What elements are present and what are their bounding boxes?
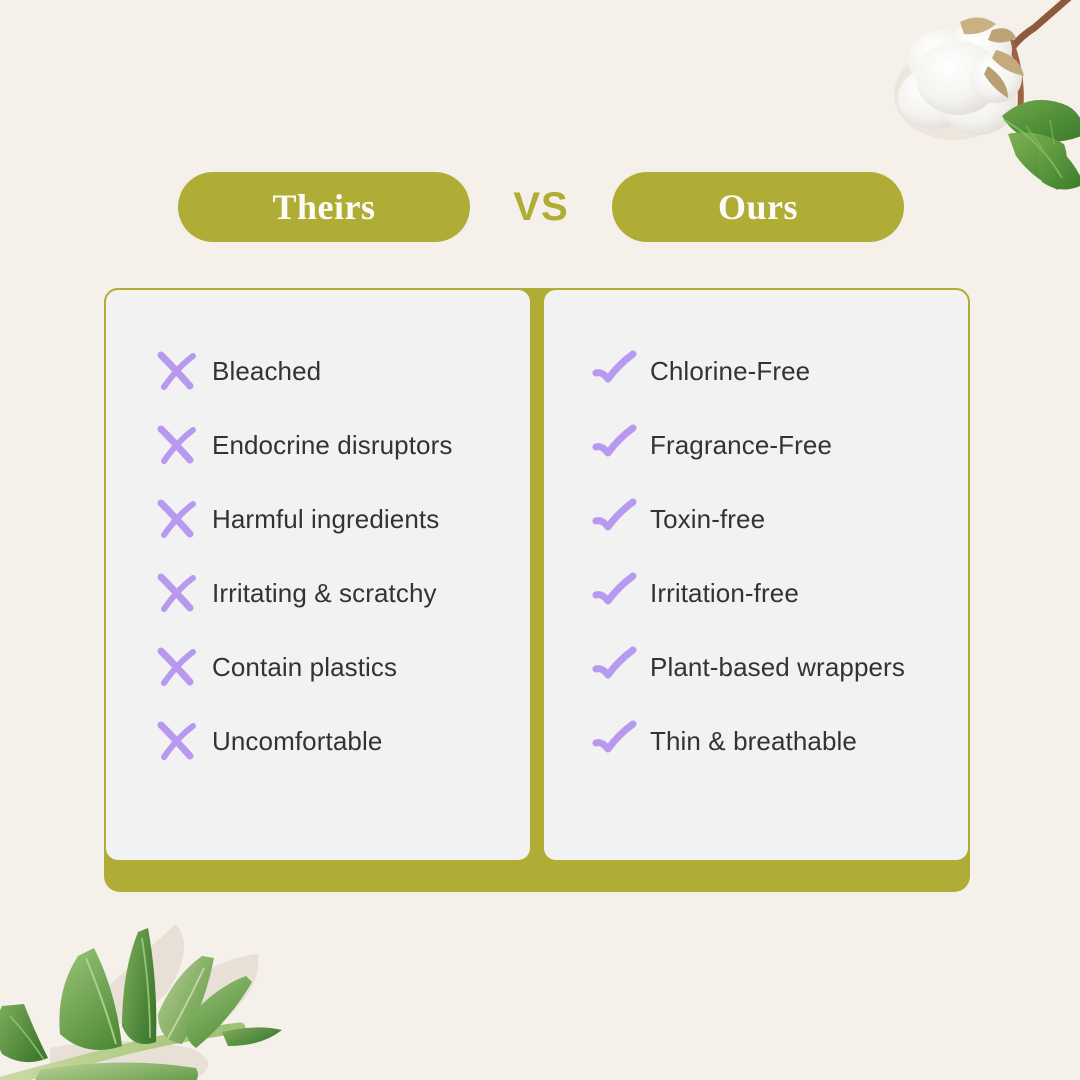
ours-card: Chlorine-FreeFragrance-FreeToxin-freeIrr… [542,288,970,862]
check-mark-icon [592,645,638,689]
list-item: Endocrine disruptors [106,408,530,482]
list-item-label: Endocrine disruptors [212,430,452,461]
list-item-label: Uncomfortable [212,726,382,757]
comparison-cards: BleachedEndocrine disruptorsHarmful ingr… [104,288,970,862]
list-item-label: Plant-based wrappers [650,652,905,683]
ours-pill: Ours [612,172,904,242]
green-leaves-sprig-decoration [0,898,320,1080]
list-item-label: Thin & breathable [650,726,857,757]
versus-label: VS [470,172,612,242]
list-item: Chlorine-Free [544,334,968,408]
check-mark-icon [592,571,638,615]
theirs-pill: Theirs [178,172,470,242]
list-item: Thin & breathable [544,704,968,778]
ours-pill-label: Ours [718,189,798,225]
poster-canvas: Theirs VS Ours BleachedEndocrine disrupt… [0,0,1080,1080]
x-mark-icon [154,423,200,467]
x-mark-icon [154,349,200,393]
comparison-header: Theirs VS Ours [0,172,1080,242]
check-mark-icon [592,497,638,541]
list-item-label: Harmful ingredients [212,504,439,535]
list-item-label: Bleached [212,356,321,387]
list-item: Harmful ingredients [106,482,530,556]
comparison-board: BleachedEndocrine disruptorsHarmful ingr… [104,288,970,892]
list-item-label: Fragrance-Free [650,430,832,461]
ours-item-list: Chlorine-FreeFragrance-FreeToxin-freeIrr… [544,334,968,778]
list-item-label: Toxin-free [650,504,765,535]
theirs-card: BleachedEndocrine disruptorsHarmful ingr… [104,288,532,862]
list-item: Bleached [106,334,530,408]
check-mark-icon [592,349,638,393]
list-item-label: Irritating & scratchy [212,578,437,609]
list-item: Toxin-free [544,482,968,556]
check-mark-icon [592,423,638,467]
list-item: Plant-based wrappers [544,630,968,704]
x-mark-icon [154,719,200,763]
check-mark-icon [592,719,638,763]
theirs-pill-label: Theirs [272,189,375,225]
x-mark-icon [154,571,200,615]
x-mark-icon [154,645,200,689]
x-mark-icon [154,497,200,541]
list-item: Uncomfortable [106,704,530,778]
list-item-label: Irritation-free [650,578,799,609]
theirs-item-list: BleachedEndocrine disruptorsHarmful ingr… [106,334,530,778]
list-item: Irritation-free [544,556,968,630]
list-item-label: Chlorine-Free [650,356,810,387]
list-item: Contain plastics [106,630,530,704]
list-item: Fragrance-Free [544,408,968,482]
list-item-label: Contain plastics [212,652,397,683]
list-item: Irritating & scratchy [106,556,530,630]
